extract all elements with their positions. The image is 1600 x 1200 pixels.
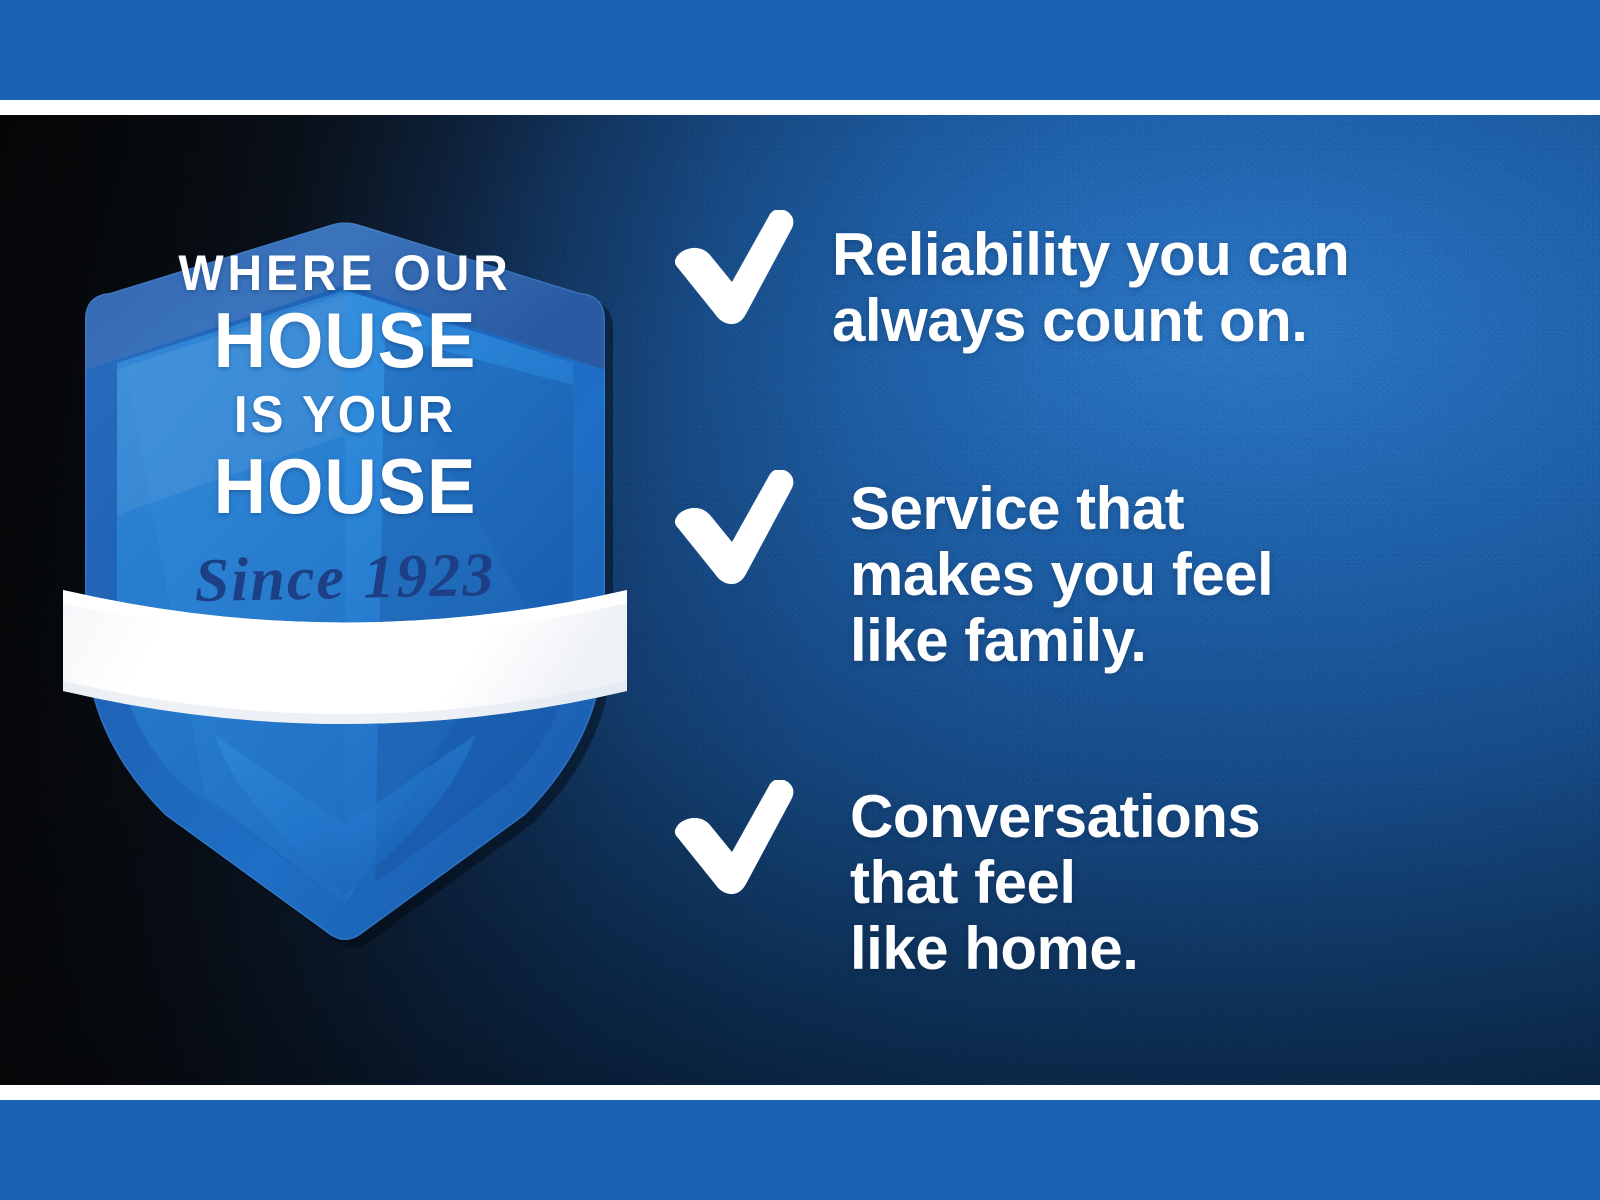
company-shield-logo: WHERE OUR HOUSE IS YOUR HOUSE Since 1923 — [55, 135, 635, 925]
checkmark-icon — [670, 470, 798, 588]
bottom-separator-line — [0, 1085, 1600, 1100]
top-brand-bar — [0, 0, 1600, 100]
checkmark-icon — [670, 780, 798, 898]
list-item: Service that makes you feel like family. — [670, 470, 1273, 674]
list-item: Reliability you can always count on. — [670, 210, 1349, 354]
promo-poster: WHERE OUR HOUSE IS YOUR HOUSE Since 1923… — [0, 0, 1600, 1200]
top-separator-line — [0, 100, 1600, 115]
list-item-label: Conversations that feel like home. — [850, 784, 1260, 982]
value-proposition-list: Reliability you can always count on. Ser… — [660, 115, 1540, 1085]
shield-body — [85, 203, 605, 940]
bottom-brand-bar — [0, 1100, 1600, 1200]
list-item-label: Reliability you can always count on. — [832, 222, 1349, 354]
list-item-label: Service that makes you feel like family. — [850, 476, 1273, 674]
list-item: Conversations that feel like home. — [670, 780, 1260, 982]
checkmark-icon — [670, 210, 798, 328]
